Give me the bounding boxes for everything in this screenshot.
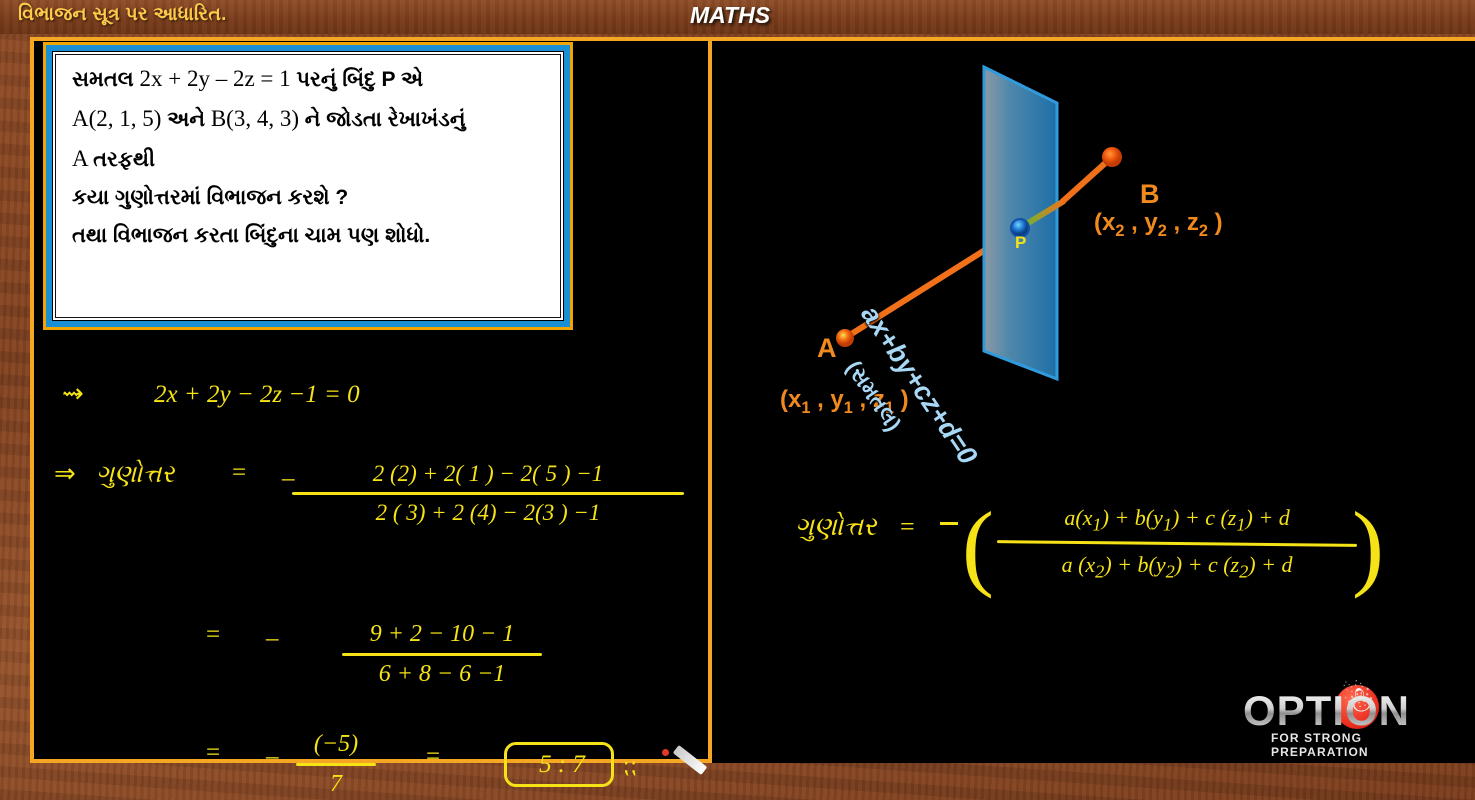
hand-ratio-label-left: ગુણોત્તર (96, 461, 174, 489)
question-line-1-math: 2x + 2y – 2z = 1 (139, 66, 296, 91)
hand-fraction-1-denominator: 2 ( 3) + 2 (4) − 2(3 ) −1 (292, 500, 684, 526)
hand-fraction-2-denominator: 6 + 8 − 6 −1 (342, 661, 542, 688)
question-line-3: A તરફથી (72, 147, 546, 170)
hand-fraction-1-numerator: 2 (2) + 2( 1 ) − 2( 5 ) −1 (292, 461, 684, 487)
hand-fraction-1-bar (292, 492, 684, 495)
question-line-3-post: તરફથી (93, 148, 155, 171)
point-b-dot (1102, 147, 1122, 167)
hand-fraction-3: (−5) 7 (296, 731, 376, 798)
screen-root: વિભાજન સૂત્ર પર આધારિત. MATHS સમતલ 2x + … (0, 0, 1475, 800)
left-blackboard-panel: સમતલ 2x + 2y – 2z = 1 પરનું બિંદુ P એ A(… (30, 37, 712, 763)
page-title: વિભાજન સૂત્ર પર આધારિત. (18, 4, 227, 26)
hand-fraction-right-bar (997, 541, 1357, 548)
hand-equals-right: = (900, 512, 915, 542)
point-b-label: B (1140, 179, 1160, 210)
point-b-coords: (x2 , y2 , z2 ) (1094, 209, 1223, 241)
hand-fraction-3-denominator: 7 (296, 771, 376, 798)
pen-squiggle: ⁏⁏ (622, 753, 637, 779)
hand-minus-3: – (266, 743, 279, 771)
question-line-4: કયા ગુણોત્તરમાં વિભાજન કરશે ? (72, 187, 546, 208)
question-line-3-math: A (72, 146, 93, 171)
hand-minus-2: – (266, 625, 279, 653)
question-line-2: A(2, 1, 5) અને B(3, 4, 3) ને જોડતા રેખાખ… (72, 107, 546, 130)
logo-tagline: FOR STRONG PREPARATION (1271, 731, 1425, 759)
question-card-inner: સમતલ 2x + 2y – 2z = 1 પરનું બિંદુ P એ A(… (55, 54, 561, 318)
stylus-pen-icon (673, 745, 708, 775)
hand-equals-2: = (206, 621, 220, 649)
hand-fraction-2: 9 + 2 − 10 − 1 6 + 8 − 6 −1 (342, 621, 542, 688)
hand-ratio-label-right: ગુણોત્તર (795, 512, 876, 543)
header-bar: વિભાજન સૂત્ર પર આધારિત. MATHS (0, 0, 1475, 34)
hand-arrow-1: ⇝ (62, 379, 84, 409)
segment-p-to-b (1062, 157, 1112, 202)
answer-box: 5 : 7 (504, 742, 614, 787)
question-line-2-post: ને જોડતા રેખાખંડનું (305, 108, 466, 131)
logo-wordmark: OPTION (1243, 687, 1410, 735)
question-line-2-mid: અને (167, 108, 211, 131)
question-line-2-math-b: B(3, 4, 3) (211, 106, 305, 131)
point-a-label: A (817, 333, 837, 364)
brand-logo: ☃ OPTION FOR STRONG PREPARATION (1243, 683, 1425, 753)
hand-minus-right (940, 522, 958, 525)
question-line-5: તથા વિભાજન કરતા બિંદુના ચામ પણ શોધો. (72, 225, 546, 246)
question-line-1-post: પરનું બિંદુ P એ (296, 68, 423, 91)
hand-equals-4: = (426, 743, 440, 771)
pen-tip-icon (662, 749, 669, 756)
hand-fraction-2-numerator: 9 + 2 − 10 − 1 (342, 621, 542, 648)
subject-title: MATHS (690, 2, 770, 29)
question-card: સમતલ 2x + 2y – 2z = 1 પરનું બિંદુ P એ A(… (46, 45, 570, 327)
answer-value: 5 : 7 (507, 751, 617, 779)
question-line-1-pre: સમતલ (72, 68, 139, 91)
hand-fraction-2-bar (342, 653, 542, 656)
hand-fraction-right: a(x1) + b(y1) + c (z1) + d a (x2) + b(y2… (997, 505, 1357, 583)
hand-fraction-1: 2 (2) + 2( 1 ) − 2( 5 ) −1 2 ( 3) + 2 (4… (292, 461, 684, 526)
hand-paren-open: ( (962, 498, 994, 594)
hand-arrow-2: ⇒ (54, 459, 76, 489)
point-p-label: P (1015, 233, 1026, 253)
hand-equals-1: = (232, 459, 246, 487)
hand-fraction-3-numerator: (−5) (296, 731, 376, 758)
right-blackboard-panel: A (x1 , y1 , z1 ) B (x2 , y2 , z2 ) P (712, 37, 1475, 763)
hand-equation-1: 2x + 2y − 2z −1 = 0 (154, 381, 360, 409)
question-line-2-math-a: A(2, 1, 5) (72, 106, 167, 131)
hand-fraction-right-denominator: a (x2) + b(y2) + c (z2) + d (997, 552, 1357, 582)
point-a-dot (836, 329, 854, 347)
hand-fraction-3-bar (296, 763, 376, 766)
hand-fraction-right-numerator: a(x1) + b(y1) + c (z1) + d (997, 505, 1357, 535)
question-line-1: સમતલ 2x + 2y – 2z = 1 પરનું બિંદુ P એ (72, 67, 546, 90)
hand-equals-3: = (206, 739, 220, 767)
